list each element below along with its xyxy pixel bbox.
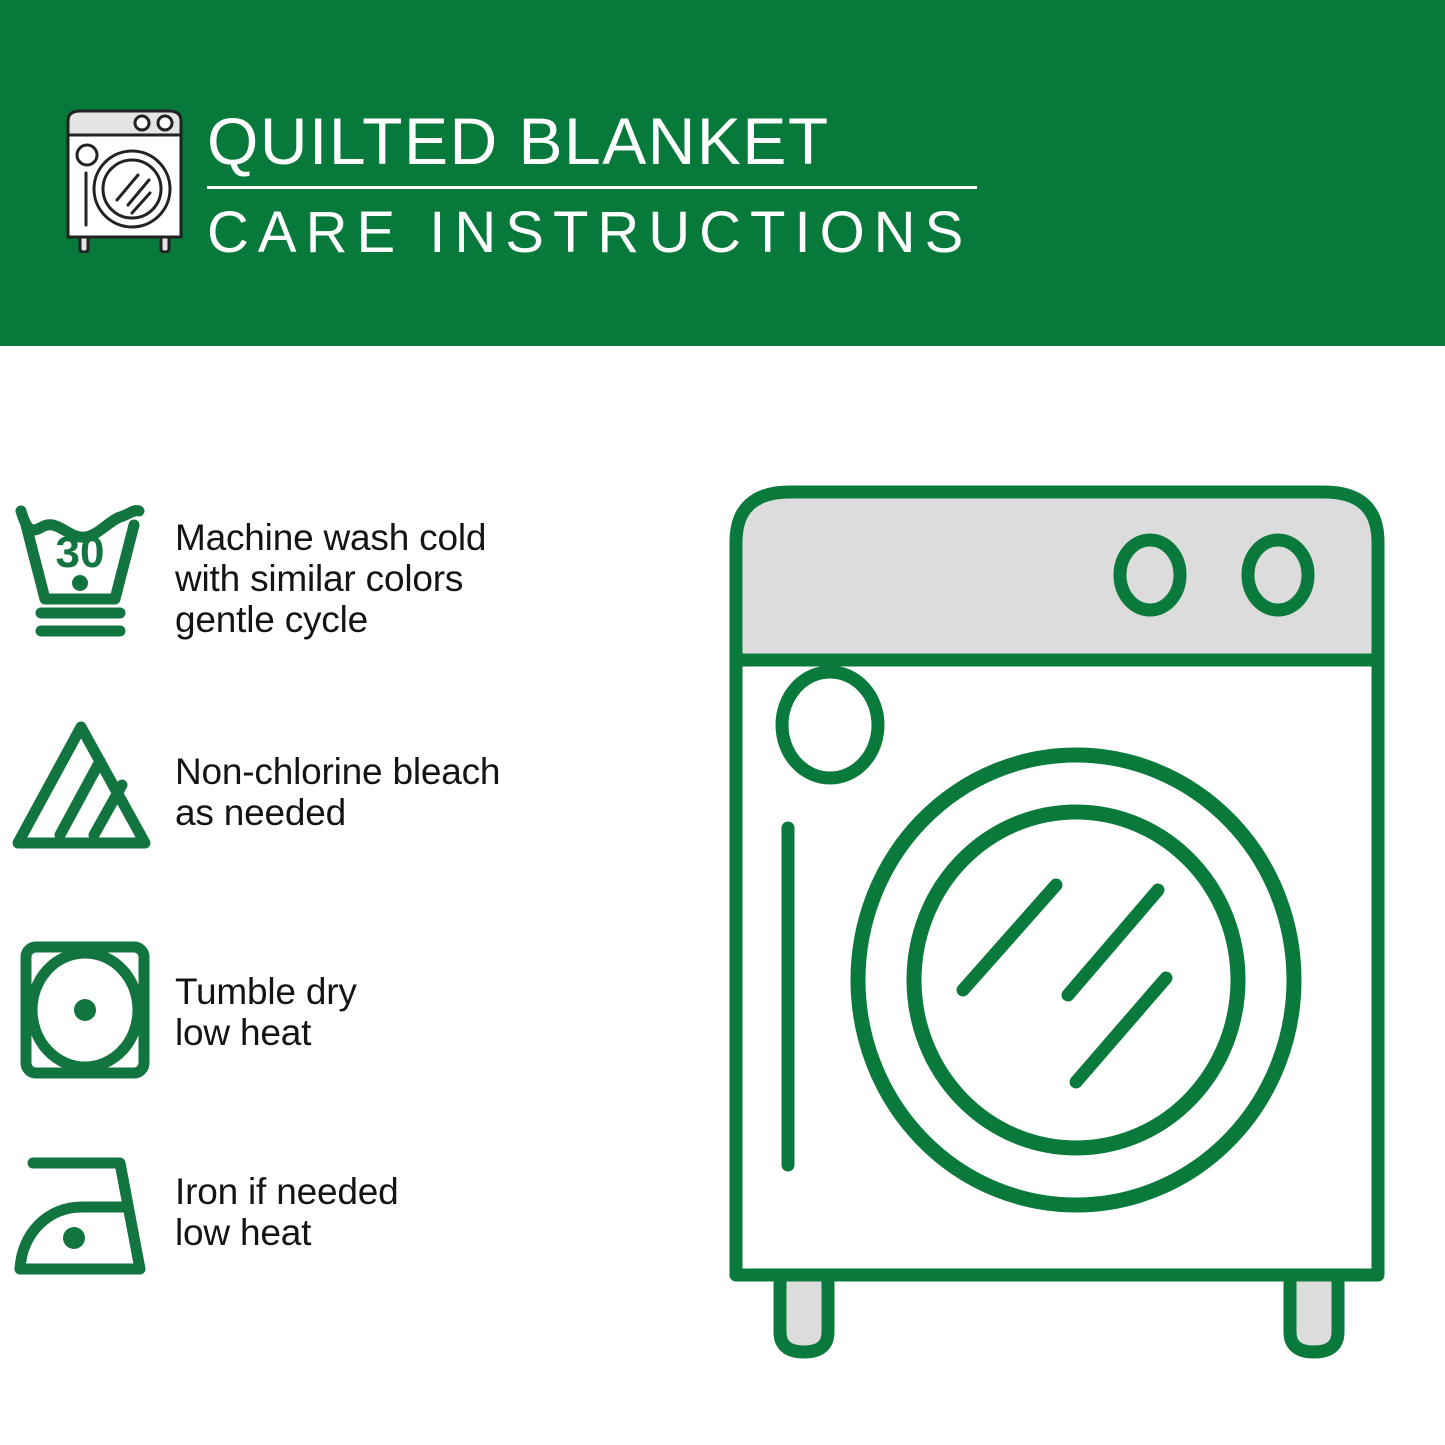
wash-temperature-value: 30 [56,528,105,577]
title-divider [207,186,977,189]
care-text-line-1: Non-chlorine bleach [175,751,640,792]
care-text-line-2: low heat [175,1212,640,1253]
washing-machine-icon [62,105,187,253]
care-item-tumble-dry: Tumble dry low heat [0,935,640,1085]
iron-low-heat-icon [0,1145,175,1295]
tumble-dry-low-icon [0,935,175,1085]
care-item-label: Tumble dry low heat [175,935,640,1053]
bleach-triangle-icon [0,715,175,865]
front-load-washing-machine-illustration [718,470,1418,1370]
page-subtitle: CARE INSTRUCTIONS [207,201,997,265]
care-text-line-1: Tumble dry [175,971,640,1012]
care-text-line-2: low heat [175,1012,640,1053]
care-instructions-page: QUILTED BLANKET CARE INSTRUCTIONS 30 [0,0,1445,1445]
care-item-label: Iron if needed low heat [175,1145,640,1253]
leg-left [780,1275,828,1352]
care-text-line-1: Iron if needed [175,1171,640,1212]
care-text-line-1: Machine wash cold [175,517,640,558]
care-text-line-3: gentle cycle [175,599,640,640]
care-item-label: Machine wash cold with similar colors ge… [175,495,640,640]
care-text-line-2: as needed [175,792,640,833]
leg-right [1290,1275,1338,1352]
care-item-label: Non-chlorine bleach as needed [175,715,640,833]
wash-tub-30-icon: 30 [0,495,175,645]
care-item-iron: Iron if needed low heat [0,1145,640,1295]
control-panel [736,492,1378,660]
care-item-machine-wash: 30 Machine wash cold with similar colors… [0,495,640,645]
header-title-block: QUILTED BLANKET CARE INSTRUCTIONS [207,104,997,265]
care-text-line-2: with similar colors [175,558,640,599]
header-band: QUILTED BLANKET CARE INSTRUCTIONS [0,0,1445,346]
page-title: QUILTED BLANKET [207,104,997,178]
care-item-bleach: Non-chlorine bleach as needed [0,715,640,865]
